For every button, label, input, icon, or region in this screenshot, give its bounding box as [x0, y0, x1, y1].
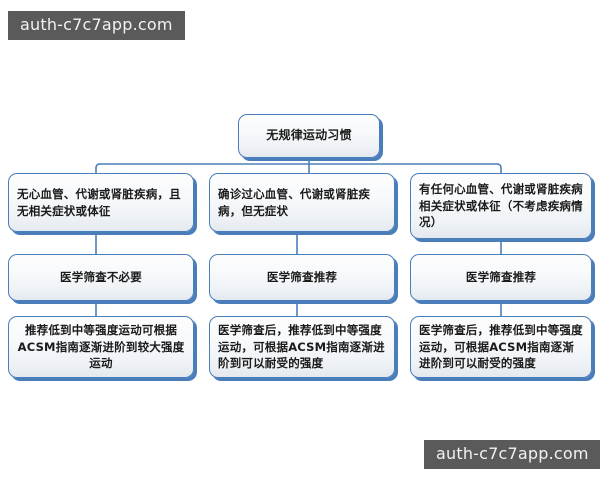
flow-node-screening-2[interactable]: 医学筛查推荐 [209, 254, 395, 301]
flow-node-screening-3-label: 医学筛查推荐 [419, 269, 583, 286]
watermark-top: auth-c7c7app.com [8, 11, 185, 40]
flow-node-condition-3-label: 有任何心血管、代谢或肾脏疾病相关症状或体征（不考虑疾病情况） [419, 181, 583, 231]
flow-node-recommendation-2-label: 医学筛查后，推荐低到中等强度运动，可根据ACSM指南逐渐进阶到可以耐受的强度 [218, 322, 386, 372]
flow-node-recommendation-2[interactable]: 医学筛查后，推荐低到中等强度运动，可根据ACSM指南逐渐进阶到可以耐受的强度 [209, 316, 395, 378]
connector-lines [0, 0, 600, 480]
flow-node-condition-3[interactable]: 有任何心血管、代谢或肾脏疾病相关症状或体征（不考虑疾病情况） [410, 173, 592, 239]
flow-node-screening-1-label: 医学筛查不必要 [17, 269, 185, 286]
flow-node-root[interactable]: 无规律运动习惯 [238, 114, 380, 158]
flowchart-canvas: 无规律运动习惯 无心血管、代谢或肾脏疾病，且无相关症状或体征 确诊过心血管、代谢… [0, 0, 600, 480]
flow-node-root-label: 无规律运动习惯 [247, 127, 371, 144]
flow-node-recommendation-3[interactable]: 医学筛查后，推荐低到中等强度运动，可根据ACSM指南逐渐进阶到可以耐受的强度 [410, 316, 592, 378]
flow-node-screening-1[interactable]: 医学筛查不必要 [8, 254, 194, 301]
flow-node-screening-3[interactable]: 医学筛查推荐 [410, 254, 592, 301]
watermark-bottom: auth-c7c7app.com [424, 440, 600, 469]
flow-node-recommendation-1[interactable]: 推荐低到中等强度运动可根据ACSM指南逐渐进阶到较大强度运动 [8, 316, 194, 378]
flow-node-condition-2-label: 确诊过心血管、代谢或肾脏疾病，但无症状 [218, 186, 386, 219]
flow-node-screening-2-label: 医学筛查推荐 [218, 269, 386, 286]
flow-node-condition-1[interactable]: 无心血管、代谢或肾脏疾病，且无相关症状或体征 [8, 173, 194, 232]
flow-node-condition-2[interactable]: 确诊过心血管、代谢或肾脏疾病，但无症状 [209, 173, 395, 232]
flow-node-recommendation-3-label: 医学筛查后，推荐低到中等强度运动，可根据ACSM指南逐渐进阶到可以耐受的强度 [419, 322, 583, 372]
flow-node-condition-1-label: 无心血管、代谢或肾脏疾病，且无相关症状或体征 [17, 186, 185, 219]
flow-node-recommendation-1-label: 推荐低到中等强度运动可根据ACSM指南逐渐进阶到较大强度运动 [17, 322, 185, 372]
